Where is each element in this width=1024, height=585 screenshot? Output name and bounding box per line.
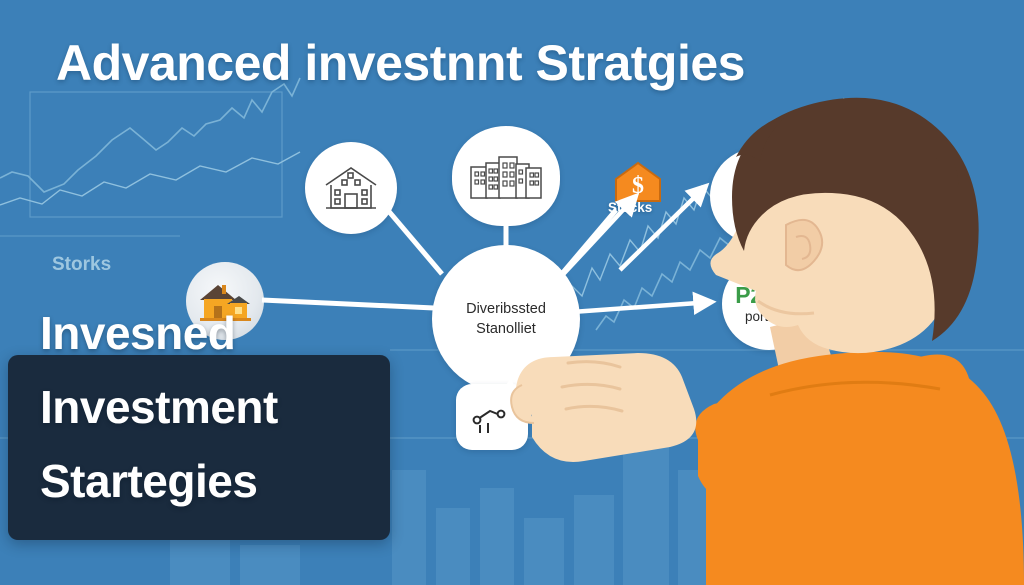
node-analytics[interactable] — [456, 384, 528, 450]
globe-banknote-icon[interactable]: $ — [618, 370, 662, 414]
p2p-sublabel: portfollo — [745, 308, 793, 325]
hub-node[interactable]: Diveribssted Stanolliet — [432, 245, 580, 393]
line-chart-icon — [470, 397, 514, 437]
page-title: Advanced investnnt Stratgies — [56, 34, 745, 92]
node-p2s-lending[interactable]: P2$ Lentding — [710, 148, 806, 244]
node-house[interactable] — [305, 142, 397, 234]
node-label-stocks: Stocks — [608, 200, 652, 215]
money-icon — [779, 284, 803, 306]
overlay-line-2: Investment — [40, 370, 420, 444]
node-city-buildings[interactable] — [452, 126, 560, 226]
svg-text:$: $ — [637, 385, 644, 400]
background-line-chart-left — [0, 78, 300, 217]
house-outline-icon — [322, 163, 380, 213]
svg-text:$: $ — [632, 173, 644, 199]
overlay-title: Invesned Investment Startegies — [40, 296, 420, 518]
infographic-canvas: Advanced investnnt Stratgies Storks — [0, 0, 1024, 585]
hub-label-line2: Stanolliet — [476, 319, 536, 339]
p2s-label: P2$ — [738, 176, 778, 199]
background-label-storks: Storks — [52, 254, 111, 276]
node-p2p-portfolio[interactable]: P2P portfollo — [722, 258, 816, 350]
node-label-reits: REITS — [622, 413, 662, 428]
city-buildings-icon — [468, 151, 544, 201]
hub-label-line1: Diveribssted — [466, 299, 546, 319]
p2s-sublabel: Lentding — [732, 200, 784, 217]
p2p-label: P2P — [735, 284, 778, 307]
house-dollar-icon[interactable]: $ — [613, 160, 663, 204]
overlay-line-1: Invesned — [40, 296, 420, 370]
overlay-line-3: Startegies — [40, 444, 420, 518]
